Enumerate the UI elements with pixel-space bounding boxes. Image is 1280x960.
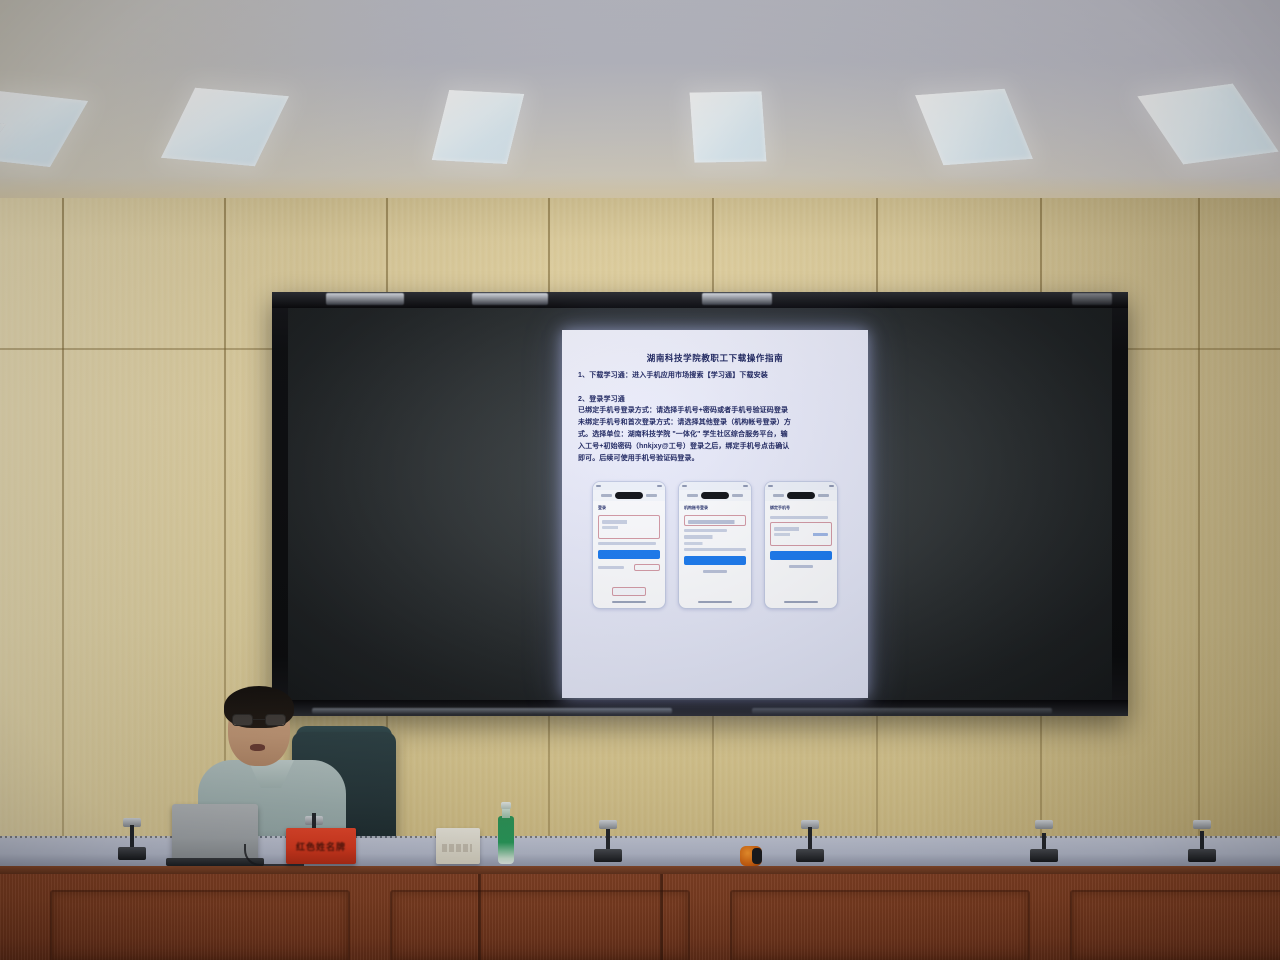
eyeglass-lens-left	[232, 714, 253, 726]
desk-decorative-panel	[730, 890, 1030, 960]
desk-front-panel	[0, 874, 1280, 960]
input-row-phone	[774, 527, 828, 531]
microphone-stem	[1200, 831, 1204, 851]
desk-decorative-panel	[50, 890, 350, 960]
org-login-primary-button[interactable]	[684, 556, 746, 565]
login-input-group[interactable]	[598, 515, 660, 539]
input-row-password	[684, 542, 746, 545]
secondary-link[interactable]	[598, 566, 624, 569]
bezel-reflection	[702, 293, 772, 305]
input-row-code	[774, 533, 828, 536]
tissue-box	[436, 828, 480, 864]
phone-screenshot-bind-phone: 绑定手机号	[764, 481, 838, 609]
phone-status-bar	[593, 482, 665, 490]
bottle-body	[498, 816, 514, 864]
unit-select-field[interactable]	[684, 515, 746, 526]
nav-right-chip	[818, 494, 829, 497]
microphone-base	[118, 847, 146, 860]
device-dark-part	[752, 848, 762, 864]
nav-redacted-pill	[787, 492, 815, 499]
phone-screenshot-org-login: 机构账号登录	[678, 481, 752, 609]
bottle-cap	[501, 802, 511, 809]
slide-spacer	[578, 382, 852, 394]
eyeglass-lens-right	[265, 714, 286, 726]
bezel-reflection-bottom	[312, 708, 672, 714]
microphone-center[interactable]	[594, 816, 622, 862]
input-row-account	[602, 520, 656, 524]
phone-status-bar	[765, 482, 837, 490]
bezel-reflection-bottom	[752, 708, 1052, 714]
input-row-password	[602, 526, 656, 529]
phone-screenshot-row: 登录	[578, 481, 852, 609]
switch-login-link[interactable]	[703, 570, 727, 573]
name-placard: 红色姓名牌	[286, 828, 356, 864]
confirm-primary-button[interactable]	[770, 551, 832, 560]
nav-right-chip	[732, 494, 743, 497]
led-video-wall[interactable]: 湖南科技学院教职工下载操作指南 1、下载学习通：进入手机应用市场搜索【学习通】下…	[272, 292, 1128, 716]
name-placard-text: 红色姓名牌	[296, 840, 346, 853]
slide-body-line: 式。选择单位：湖南科技学院 "一体化" 学生社区综合服务平台，输	[578, 429, 852, 441]
wall-seam-vertical	[62, 198, 64, 910]
input-row-id	[684, 535, 746, 539]
nav-left-chip	[601, 494, 612, 497]
status-left-icon	[596, 485, 601, 487]
microphone-stem	[606, 829, 610, 851]
microphone-stem	[130, 825, 134, 849]
ceiling	[0, 0, 1280, 206]
helper-text	[598, 542, 656, 545]
wall-seam-vertical	[1198, 198, 1200, 910]
login-primary-button[interactable]	[598, 550, 660, 559]
slide-title: 湖南科技学院教职工下载操作指南	[578, 352, 852, 364]
status-left-icon	[682, 485, 687, 487]
slide-step-2-heading: 2、登录学习通	[578, 394, 852, 406]
speaker-mouth	[250, 744, 265, 751]
status-right-icon	[657, 485, 662, 487]
status-left-icon	[768, 485, 773, 487]
status-right-icon	[829, 485, 834, 487]
status-right-icon	[743, 485, 748, 487]
phone-nav-bar	[765, 490, 837, 501]
microphone-base	[796, 849, 824, 862]
ceiling-light-panel-4	[690, 91, 767, 162]
slide-body-line: 即可。后续可使用手机号验证码登录。	[578, 453, 852, 465]
nav-left-chip	[773, 494, 784, 497]
microphone-speaker[interactable]	[118, 812, 146, 860]
bind-hint-text	[770, 516, 828, 519]
phone-home-indicator	[612, 601, 646, 603]
phone-screen-heading: 机构账号登录	[679, 501, 751, 513]
microphone-head	[1035, 820, 1053, 829]
phone-home-indicator	[784, 601, 818, 603]
microphone-stem	[808, 827, 812, 851]
eyeglass-bridge	[253, 719, 265, 720]
microphone-base	[594, 849, 622, 862]
other-login-highlight[interactable]	[634, 564, 660, 571]
phone-screen-heading: 绑定手机号	[765, 501, 837, 513]
desk-decorative-panel	[390, 890, 690, 960]
microphone-far-right-1[interactable]	[1030, 820, 1058, 862]
eyeglasses-icon	[232, 714, 286, 726]
tissue-box-label	[442, 844, 472, 852]
phone-screenshot-login: 登录	[592, 481, 666, 609]
slide-step-1: 1、下载学习通：进入手机应用市场搜索【学习通】下载安装	[578, 370, 852, 382]
skip-link[interactable]	[789, 565, 813, 568]
slide-body-line: 未绑定手机号和首次登录方式：请选择其他登录（机构帐号登录）方	[578, 417, 852, 429]
desk-joint-seam	[478, 874, 481, 960]
phone-home-indicator	[698, 601, 732, 603]
slide-body-line: 已绑定手机号登录方式：请选择手机号+密码或者手机号验证码登录	[578, 405, 852, 417]
phone-nav-bar	[679, 490, 751, 501]
bezel-reflection	[1072, 293, 1112, 305]
unit-value-row	[688, 520, 742, 524]
bezel-reflection	[472, 293, 548, 305]
nav-right-chip	[646, 494, 657, 497]
microphone-right-mid[interactable]	[796, 814, 824, 862]
bottom-highlight-box	[612, 587, 646, 596]
microphone-base	[1188, 849, 1216, 862]
microphone-base	[1030, 849, 1058, 862]
agreement-text	[684, 548, 746, 551]
phone-code-input-group[interactable]	[770, 522, 832, 546]
microphone-head	[599, 820, 617, 829]
field-label	[684, 529, 727, 532]
orange-desk-device	[740, 846, 762, 866]
led-screen-surface: 湖南科技学院教职工下载操作指南 1、下载学习通：进入手机应用市场搜索【学习通】下…	[288, 308, 1112, 700]
phone-nav-bar	[593, 490, 665, 501]
projected-slide: 湖南科技学院教职工下载操作指南 1、下载学习通：进入手机应用市场搜索【学习通】下…	[562, 330, 868, 698]
phone-screen-heading: 登录	[593, 501, 665, 513]
slide-body-line: 入工号+初始密码（hnkjxy@工号）登录之后，绑定手机号点击确认	[578, 441, 852, 453]
ceiling-light-panel-3	[432, 90, 524, 164]
desk-decorative-panel	[1070, 890, 1280, 960]
microphone-head	[1193, 820, 1211, 829]
nav-left-chip	[687, 494, 698, 497]
bezel-reflection	[326, 293, 404, 305]
microphone-far-right-2[interactable]	[1188, 818, 1216, 862]
nav-redacted-pill	[615, 492, 643, 499]
bottle-neck	[502, 808, 510, 818]
phone-status-bar	[679, 482, 751, 490]
water-bottle	[498, 802, 514, 864]
conference-room-photo: 湖南科技学院教职工下载操作指南 1、下载学习通：进入手机应用市场搜索【学习通】下…	[0, 0, 1280, 960]
nav-redacted-pill	[701, 492, 729, 499]
desk-joint-seam	[660, 874, 663, 960]
